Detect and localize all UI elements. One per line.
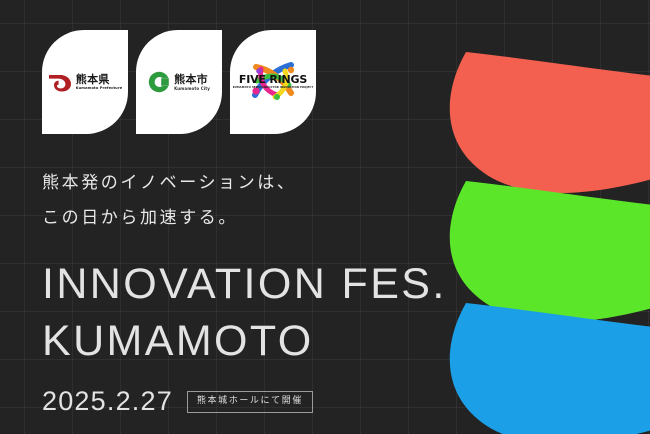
tagline-line-2: この日から加速する。 — [42, 201, 650, 236]
event-date: 2025.2.27 — [42, 386, 173, 417]
logo-label-sub: KUMAMOTO SEMICONDUCTOR INNOVATION PROJEC… — [233, 87, 314, 90]
logo-label-ja: 熊本県 — [76, 74, 122, 85]
logo-label-title: FIVE RINGS — [233, 74, 314, 85]
event-footer: 2025.2.27 熊本城ホールにて開催 — [42, 386, 650, 417]
partner-logo-cards: 熊本県 Kumamoto Prefecture 熊本市 Kumamoto Cit… — [42, 30, 650, 134]
logo-card-five-rings: FIVE RINGS KUMAMOTO SEMICONDUCTOR INNOVA… — [230, 30, 316, 134]
logo-card-kumamoto-city: 熊本市 Kumamoto City — [136, 30, 222, 134]
tagline-line-1: 熊本発のイノベーションは、 — [42, 166, 650, 201]
page-title: INNOVATION FES. KUMAMOTO — [42, 256, 650, 370]
kumamoto-prefecture-mark-icon — [48, 72, 72, 92]
headline-line-1: INNOVATION FES. — [42, 256, 650, 313]
logo-label-en: Kumamoto Prefecture — [76, 87, 122, 91]
logo-label-ja: 熊本市 — [174, 74, 210, 85]
tagline: 熊本発のイノベーションは、 この日から加速する。 — [42, 166, 650, 236]
headline-line-2: KUMAMOTO — [42, 313, 650, 370]
logo-label-en: Kumamoto City — [174, 87, 210, 91]
venue-badge: 熊本城ホールにて開催 — [187, 391, 313, 413]
kumamoto-city-mark-icon — [148, 71, 170, 93]
logo-card-kumamoto-prefecture: 熊本県 Kumamoto Prefecture — [42, 30, 128, 134]
poster-content: 熊本県 Kumamoto Prefecture 熊本市 Kumamoto Cit… — [0, 0, 650, 434]
